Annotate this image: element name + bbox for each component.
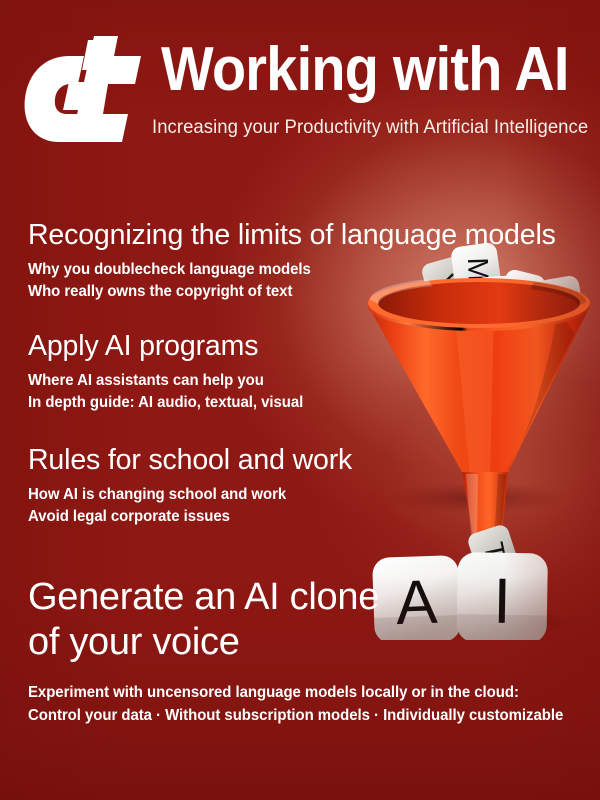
teaser-lines: How AI is changing school and work Avoid… <box>28 484 352 527</box>
teaser-block-1[interactable]: Recognizing the limits of language model… <box>28 218 556 302</box>
teaser-headline: Rules for school and work <box>28 443 352 477</box>
teaser-block-2[interactable]: Apply AI programs Where AI assistants ca… <box>28 329 315 413</box>
feature-headline-line-1: Generate an AI clone <box>28 575 586 620</box>
feature-line: Experiment with uncensored language mode… <box>28 681 563 704</box>
teaser-line: Avoid legal corporate issues <box>28 506 339 528</box>
teaser-lines: Why you doublecheck language models Who … <box>28 259 556 302</box>
feature-lines: Experiment with uncensored language mode… <box>28 681 586 727</box>
feature-headline-line-2: of your voice <box>28 620 586 665</box>
feature-line: Control your data · Without subscription… <box>28 704 563 727</box>
teaser-block-3[interactable]: Rules for school and work How AI is chan… <box>28 443 352 527</box>
magazine-cover: I M J Z O <box>0 0 600 800</box>
teaser-headline: Apply AI programs <box>28 329 315 363</box>
teaser-line: Who really owns the copyright of text <box>28 281 535 303</box>
teaser-lines: Where AI assistants can help you In dept… <box>28 370 315 413</box>
feature-teaser-block[interactable]: Generate an AI clone of your voice Exper… <box>28 575 586 727</box>
teaser-line: In depth guide: AI audio, textual, visua… <box>28 392 303 414</box>
teaser-line: Why you doublecheck language models <box>28 259 535 281</box>
teaser-line: How AI is changing school and work <box>28 484 339 506</box>
teaser-list: Recognizing the limits of language model… <box>0 0 600 800</box>
teaser-line: Where AI assistants can help you <box>28 370 303 392</box>
teaser-headline: Recognizing the limits of language model… <box>28 218 556 252</box>
